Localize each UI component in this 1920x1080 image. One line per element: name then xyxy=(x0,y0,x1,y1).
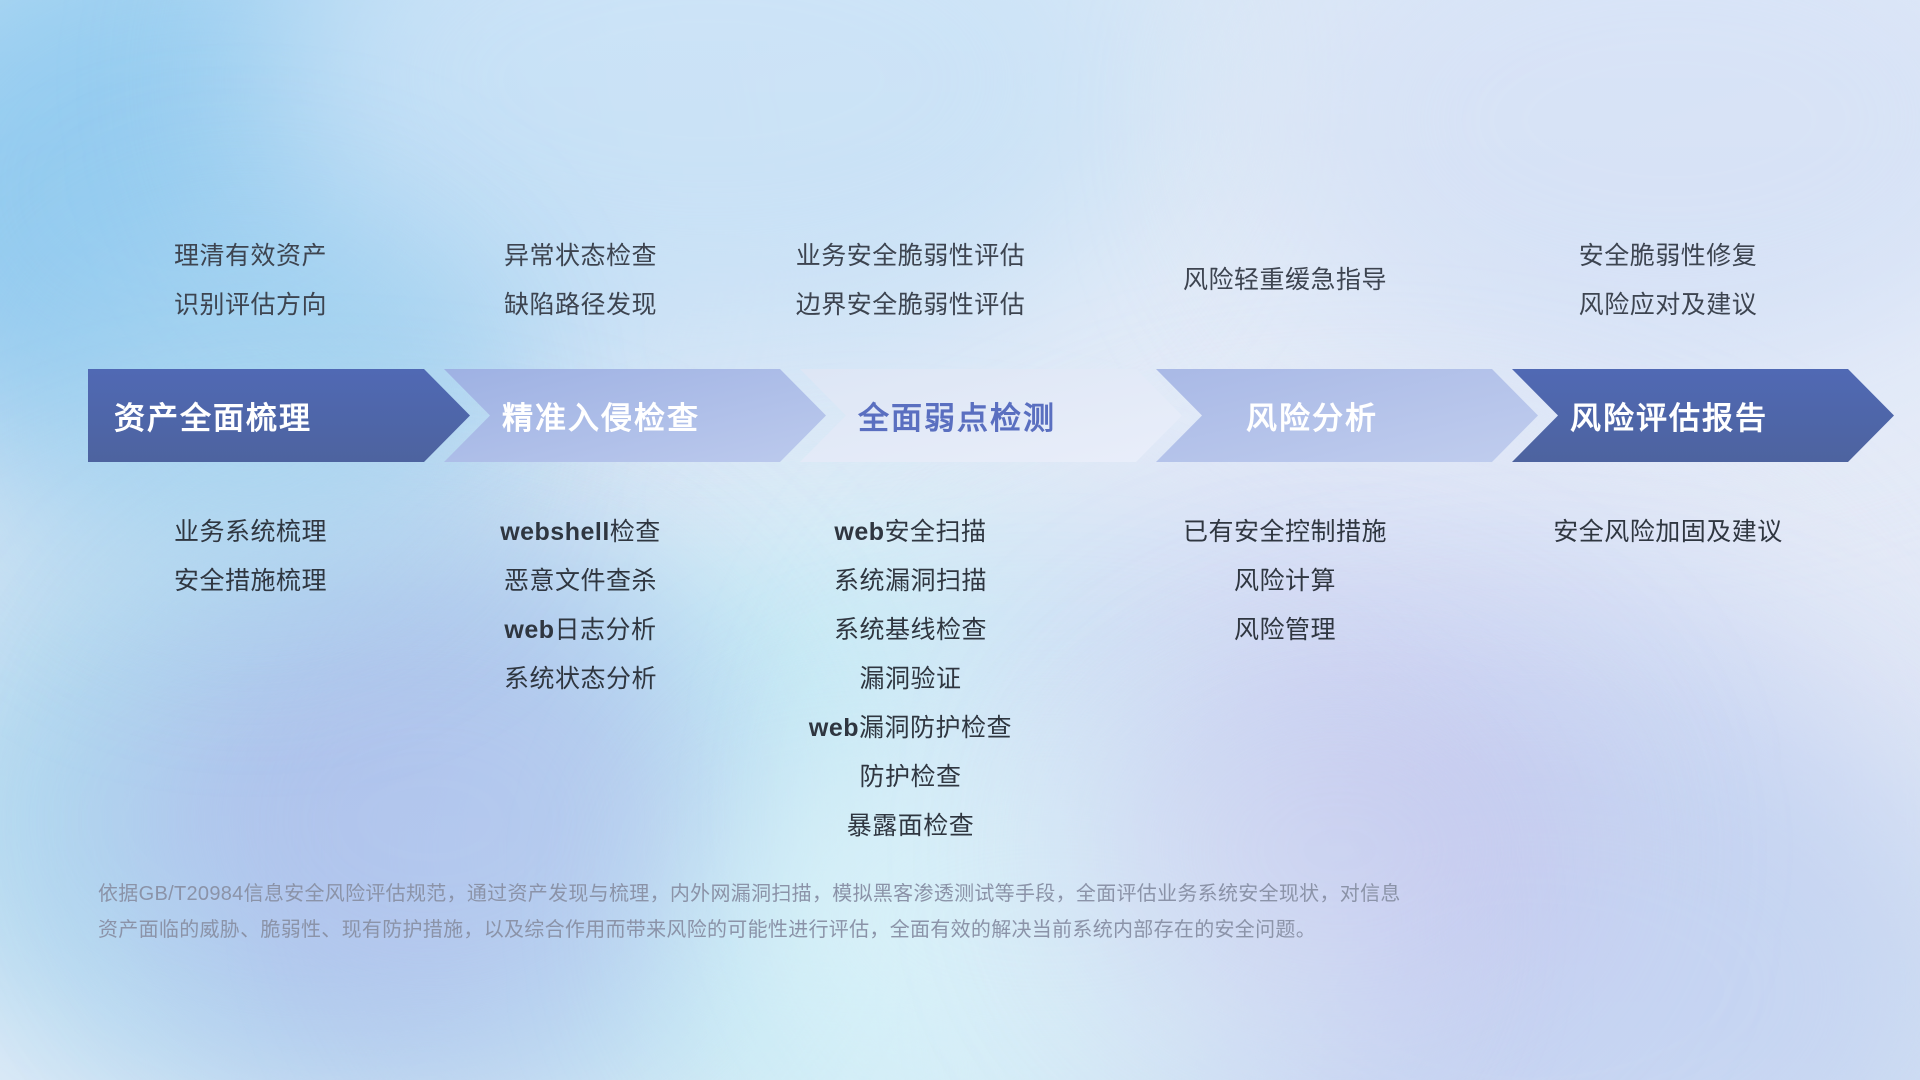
top-items-stage-2: 异常状态检查 缺陷路径发现 xyxy=(418,232,743,330)
bottom-item: 暴露面检查 xyxy=(748,802,1073,851)
bottom-item: 已有安全控制措施 xyxy=(1120,508,1450,557)
bottom-items-stage-3: web安全扫描 系统漏洞扫描 系统基线检查 漏洞验证 web漏洞防护检查 防护检… xyxy=(748,508,1073,851)
top-items-stage-3: 业务安全脆弱性评估 边界安全脆弱性评估 xyxy=(748,232,1073,330)
top-items-stage-1: 理清有效资产 识别评估方向 xyxy=(88,232,413,330)
bottom-item: 系统基线检查 xyxy=(748,606,1073,655)
stage-chevron-band: 资产全面梳理 精准入侵检查 xyxy=(88,369,1844,462)
top-item: 边界安全脆弱性评估 xyxy=(748,281,1073,330)
stage-chevron-2[interactable]: 精准入侵检查 xyxy=(444,369,826,462)
top-item: 安全脆弱性修复 xyxy=(1492,232,1844,281)
bottom-item: 防护检查 xyxy=(748,753,1073,802)
top-item: 异常状态检查 xyxy=(418,232,743,281)
bottom-items-stage-4: 已有安全控制措施 风险计算 风险管理 xyxy=(1120,508,1450,655)
stage-chevron-label: 全面弱点检测 xyxy=(800,393,1182,438)
footer-line-1: 依据GB/T20984信息安全风险评估规范，通过资产发现与梳理，内外网漏洞扫描，… xyxy=(98,876,1658,912)
top-item: 风险轻重缓急指导 xyxy=(1120,256,1450,305)
stage-chevron-5[interactable]: 风险评估报告 xyxy=(1512,369,1894,462)
top-item: 业务安全脆弱性评估 xyxy=(748,232,1073,281)
bottom-item: web安全扫描 xyxy=(748,508,1073,557)
stage-chevron-label: 资产全面梳理 xyxy=(88,393,470,438)
footer-note: 依据GB/T20984信息安全风险评估规范，通过资产发现与梳理，内外网漏洞扫描，… xyxy=(98,876,1658,948)
bottom-item: web日志分析 xyxy=(418,606,743,655)
stage-chevron-label: 精准入侵检查 xyxy=(444,393,826,438)
bottom-items-stage-1: 业务系统梳理 安全措施梳理 xyxy=(88,508,413,606)
bottom-item: 业务系统梳理 xyxy=(88,508,413,557)
stage-chevron-label: 风险分析 xyxy=(1156,393,1538,438)
stage-chevron-4[interactable]: 风险分析 xyxy=(1156,369,1538,462)
bottom-item: 安全风险加固及建议 xyxy=(1492,508,1844,557)
bottom-item: 安全措施梳理 xyxy=(88,557,413,606)
bottom-item: 系统漏洞扫描 xyxy=(748,557,1073,606)
stage-chevron-label: 风险评估报告 xyxy=(1512,393,1894,438)
bottom-item: 系统状态分析 xyxy=(418,655,743,704)
top-items-stage-4: 风险轻重缓急指导 xyxy=(1120,256,1450,305)
bottom-item: webshell检查 xyxy=(418,508,743,557)
top-items-stage-5: 安全脆弱性修复 风险应对及建议 xyxy=(1492,232,1844,330)
top-item: 风险应对及建议 xyxy=(1492,281,1844,330)
process-diagram: 理清有效资产 识别评估方向 异常状态检查 缺陷路径发现 业务安全脆弱性评估 边界… xyxy=(0,0,1920,1080)
stage-chevron-1[interactable]: 资产全面梳理 xyxy=(88,369,470,462)
bottom-item: web漏洞防护检查 xyxy=(748,704,1073,753)
bottom-item: 风险管理 xyxy=(1120,606,1450,655)
bottom-item: 恶意文件查杀 xyxy=(418,557,743,606)
top-item: 理清有效资产 xyxy=(88,232,413,281)
footer-line-2: 资产面临的威胁、脆弱性、现有防护措施，以及综合作用而带来风险的可能性进行评估，全… xyxy=(98,912,1658,948)
top-item: 缺陷路径发现 xyxy=(418,281,743,330)
bottom-item: 漏洞验证 xyxy=(748,655,1073,704)
bottom-item: 风险计算 xyxy=(1120,557,1450,606)
bottom-items-stage-2: webshell检查 恶意文件查杀 web日志分析 系统状态分析 xyxy=(418,508,743,704)
bottom-items-stage-5: 安全风险加固及建议 xyxy=(1492,508,1844,557)
stage-chevron-3[interactable]: 全面弱点检测 xyxy=(800,369,1182,462)
top-item: 识别评估方向 xyxy=(88,281,413,330)
